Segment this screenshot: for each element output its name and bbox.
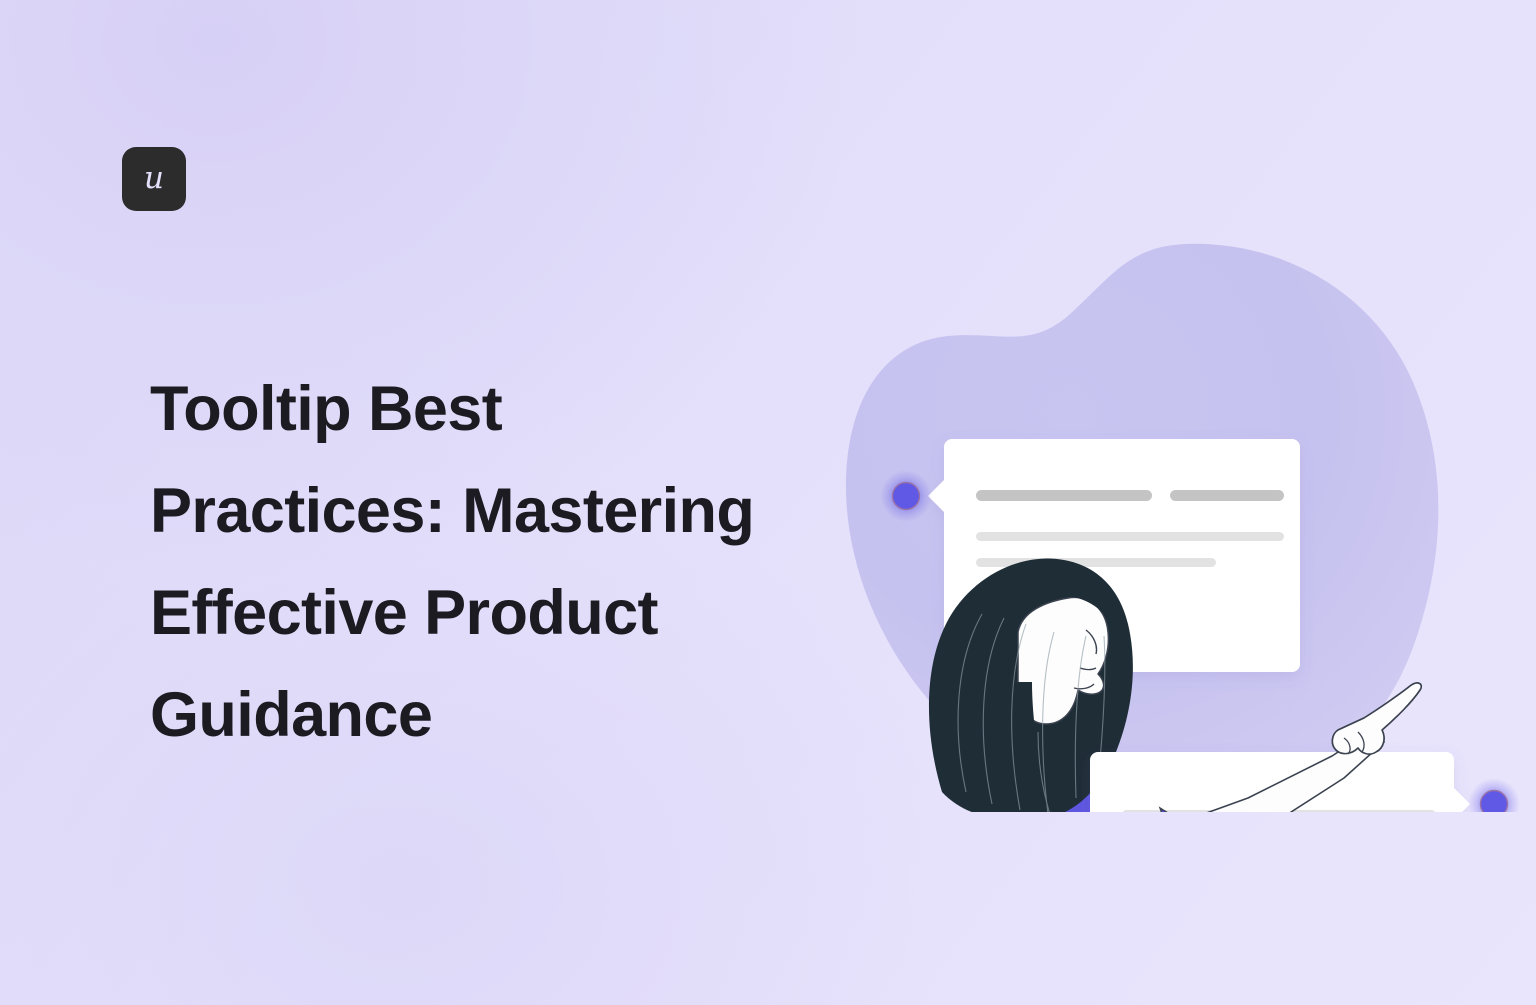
logo-letter-u: u — [144, 163, 164, 194]
page-title: Tooltip Best Practices: Mastering Effect… — [150, 358, 810, 766]
tooltip-top-line-2 — [976, 532, 1284, 541]
hero-illustration — [824, 232, 1524, 812]
tooltip-anchor-dot-left[interactable] — [880, 470, 932, 522]
tooltip-top-line-1a — [976, 490, 1152, 501]
userpilot-logo[interactable]: u — [122, 147, 186, 211]
tooltip-top-line-1b — [1170, 490, 1284, 501]
